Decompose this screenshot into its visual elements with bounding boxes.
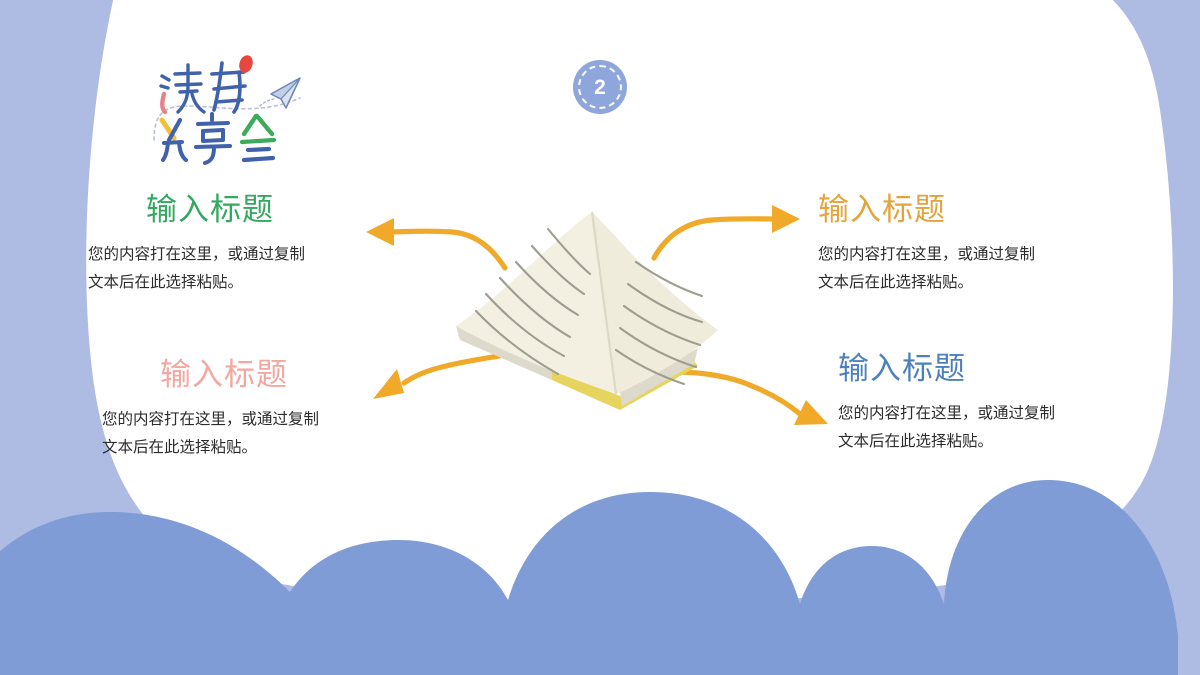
block-body-line2: 文本后在此选择粘贴。 [88,268,305,297]
block-body-line1: 您的内容打在这里，或通过复制 [838,399,1055,428]
block-body-line1: 您的内容打在这里，或通过复制 [818,240,1035,269]
block-heading-bottom-left: 输入标题 [88,358,319,394]
open-book-illustration [440,198,750,433]
block-heading-bottom-right: 输入标题 [838,352,1055,388]
block-heading-top-right: 输入标题 [818,193,1035,229]
block-body-top-right: 您的内容打在这里，或通过复制 文本后在此选择粘贴。 [818,240,1035,297]
logo-char-du [161,65,204,112]
block-body-top-left: 您的内容打在这里，或通过复制 文本后在此选择粘贴。 [88,240,305,297]
content-block-bottom-left: 输入标题 您的内容打在这里，或通过复制 文本后在此选择粘贴。 [88,358,319,462]
page-number-badge: 2 [573,60,627,114]
block-body-line2: 文本后在此选择粘贴。 [818,268,1035,297]
logo-char-hui [242,116,274,160]
logo-char-xiang [196,114,230,163]
content-block-top-left: 输入标题 您的内容打在这里，或通过复制 文本后在此选择粘贴。 [88,193,305,297]
logo-dashed-swoosh [154,98,300,140]
block-body-bottom-right: 您的内容打在这里，或通过复制 文本后在此选择粘贴。 [838,399,1055,456]
block-body-bottom-left: 您的内容打在这里，或通过复制 文本后在此选择粘贴。 [88,405,319,462]
block-body-line1: 您的内容打在这里，或通过复制 [102,405,319,434]
page-number-text: 2 [594,77,606,98]
logo-char-fen [162,120,186,160]
logo-char-shu [212,53,255,112]
cloud-shape [0,480,1178,675]
block-body-line2: 文本后在此选择粘贴。 [838,427,1055,456]
content-block-bottom-right: 输入标题 您的内容打在这里，或通过复制 文本后在此选择粘贴。 [838,352,1055,456]
paper-plane-icon [260,78,300,108]
content-block-top-right: 输入标题 您的内容打在这里，或通过复制 文本后在此选择粘贴。 [818,193,1035,297]
brand-logo [150,52,330,167]
block-body-line1: 您的内容打在这里，或通过复制 [88,240,305,269]
slide-canvas: 2 [0,0,1200,675]
block-heading-top-left: 输入标题 [88,193,305,229]
block-body-line2: 文本后在此选择粘贴。 [102,433,319,462]
